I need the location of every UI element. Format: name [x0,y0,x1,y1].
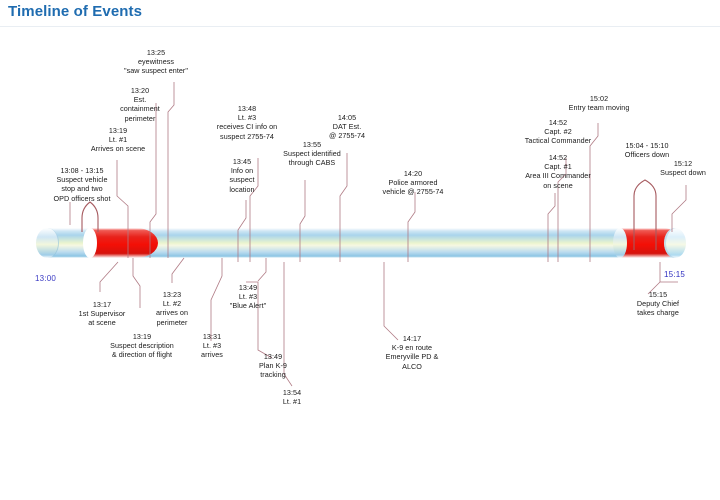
event-label-above-5: 13:48 Lt. #3 receives CI info on suspect… [196,104,298,141]
leader-b7 [384,262,398,340]
event-label-above-11: 15:02 Entry team moving [552,94,646,112]
page-title: Timeline of Events [8,3,142,20]
event-label-below-5: 13:49 Plan K-9 tracking [244,352,302,380]
event-label-above-2: 13:20 Est. containment perimeter [104,86,176,123]
event-label-above-1: 13:19 Lt. #1 Arrives on scene [74,126,162,154]
event-label-above-12: 15:04 - 15:10 Officers down [610,141,684,159]
timeline-cap-right [664,228,686,258]
event-label-above-13: 15:12 Suspect down [650,159,716,177]
event-label-below-8: 15:15 Deputy Chief takes charge [618,290,698,318]
event-label-below-1: 13:19 Suspect description & direction of… [94,332,190,360]
event-label-below-7: 14:17 K-9 en route Emeryville PD & ALCO [368,334,456,371]
timeline-end-marker: 15:15 [664,270,685,279]
event-label-above-7: 14:05 DAT Est. @ 2755-74 [310,113,384,141]
event-label-below-4: 13:49 Lt. #3 "Blue Alert" [218,283,278,311]
leader-b2 [172,258,184,283]
leader-b4 [258,258,266,281]
event-label-above-10: 14:52 Capt. #2 Tactical Commander [512,118,604,146]
timeline-cap-left [36,228,59,258]
event-label-above-0: 13:08 - 13:15 Suspect vehicle stop and t… [28,166,136,203]
timeline-slide: Timeline of Events [0,0,720,500]
leader-b0 [100,262,118,292]
event-label-below-3: 13:31 Lt. #3 arrives [186,332,238,360]
event-label-below-6: 13:54 Lt. #1 [268,388,316,406]
event-label-above-9: 14:52 Capt. #1 Area III Commander on sce… [512,153,604,190]
event-label-above-3: 13:25 eyewitness "saw suspect enter" [100,48,212,76]
event-label-above-8: 14:20 Police armored vehicle @ 2755-74 [366,169,460,197]
event-label-below-2: 13:23 Lt. #2 arrives on perimeter [140,290,204,327]
leader-a13 [672,185,686,232]
title-divider [0,26,720,27]
timeline-start-marker: 13:00 [35,274,56,283]
timeline-segment-incident-start [90,228,158,258]
timeline-bar [36,228,684,258]
event-label-above-4: 13:45 Info on suspect location [214,157,270,194]
event-label-below-0: 13:17 1st Supervisor at scene [60,300,144,328]
event-label-above-6: 13:55 Suspect identified through CABS [268,140,356,168]
